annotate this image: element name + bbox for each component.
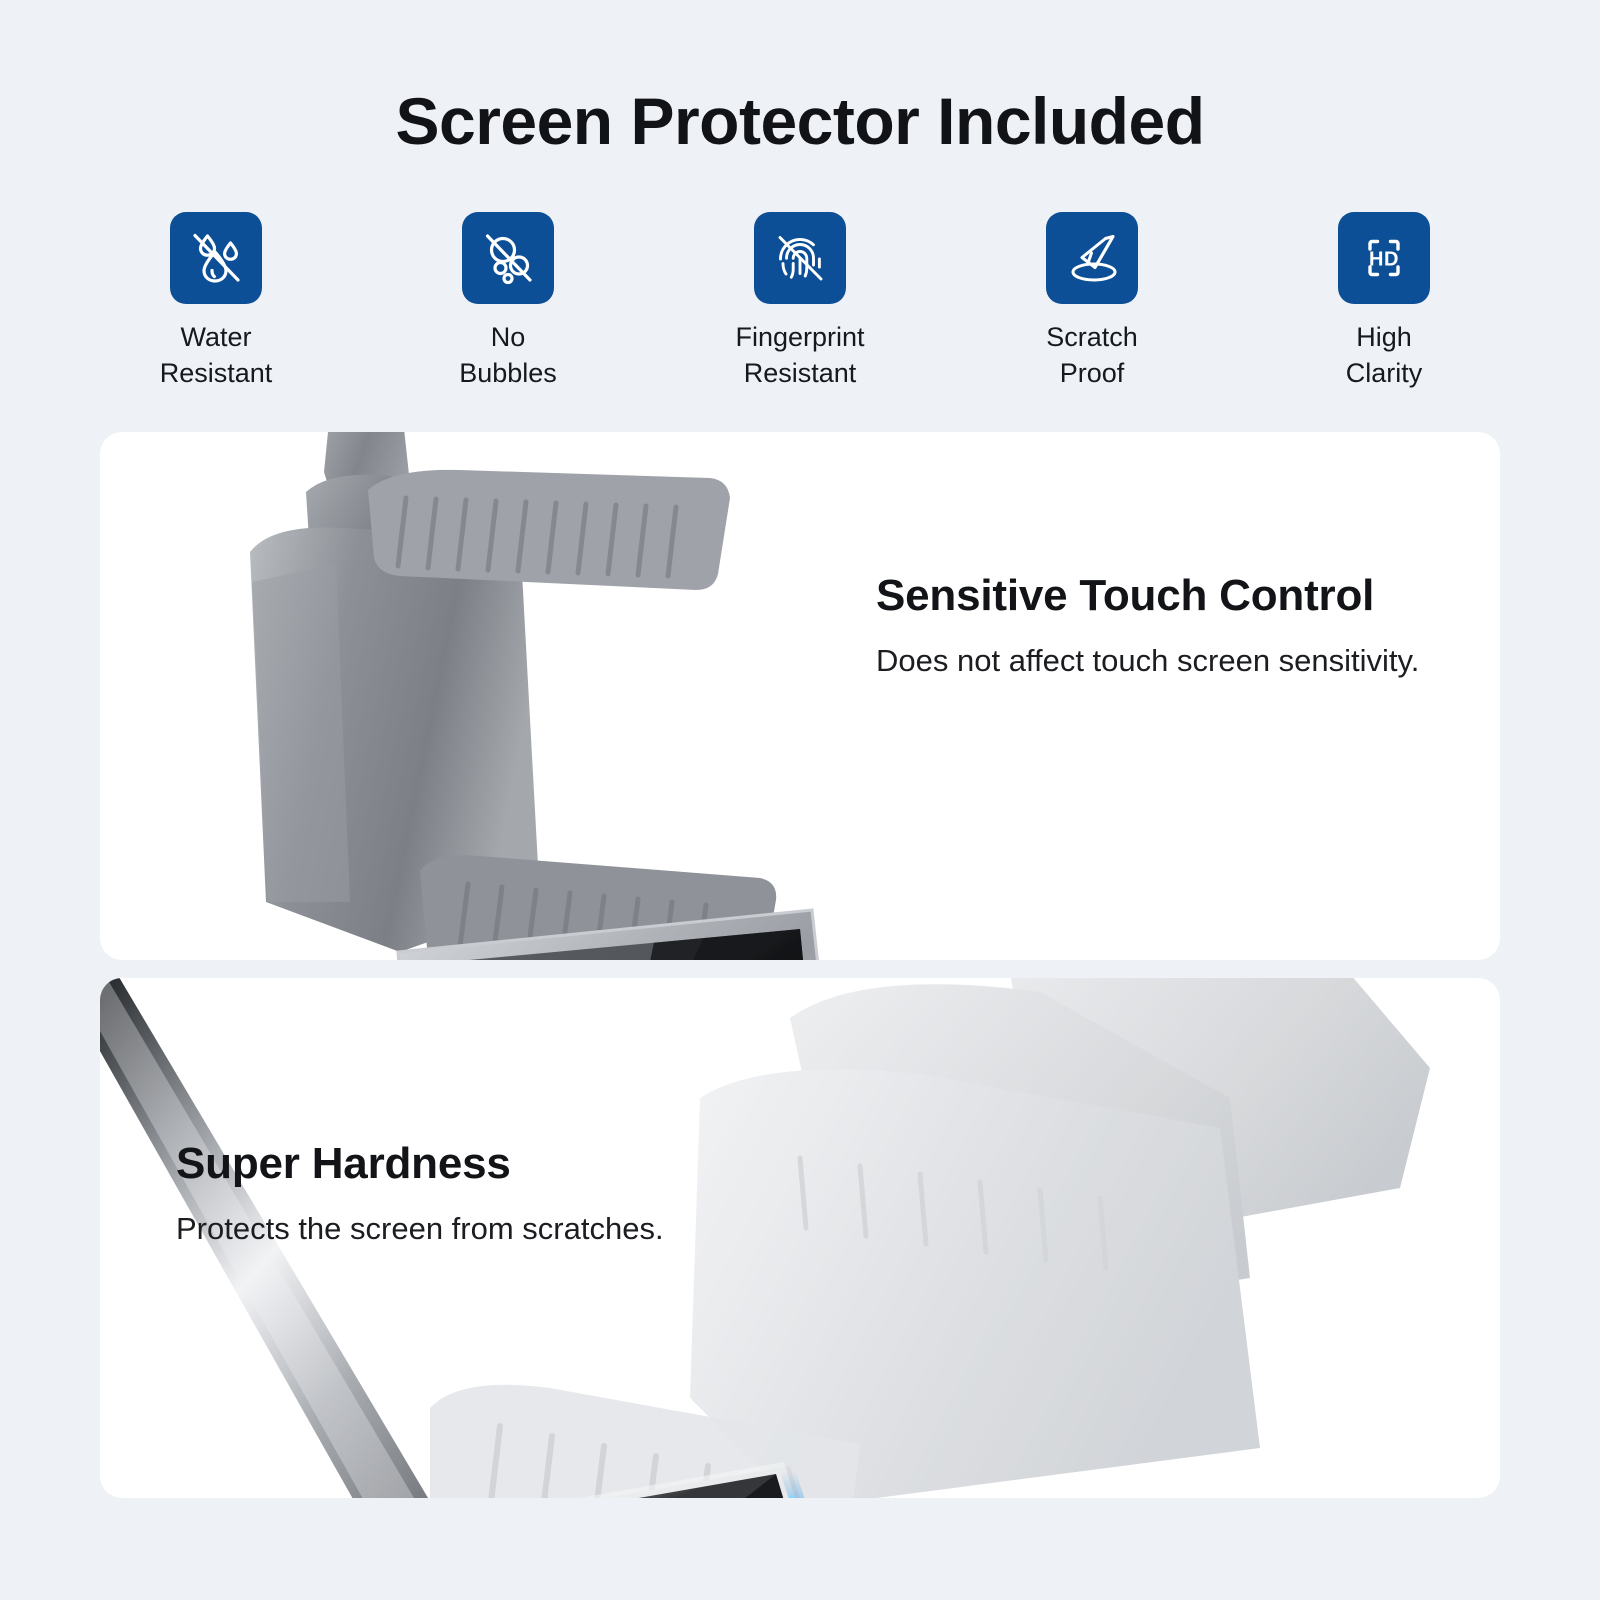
feature-label: High Clarity bbox=[1346, 320, 1423, 391]
bubbles-slash-icon bbox=[477, 227, 539, 289]
feature-item-high-clarity: HD High Clarity bbox=[1309, 212, 1459, 391]
feature-item-no-bubbles: No Bubbles bbox=[433, 212, 583, 391]
panel-copy: Super Hardness Protects the screen from … bbox=[176, 1140, 664, 1249]
feature-tile bbox=[754, 212, 846, 304]
panel-subtext: Protects the screen from scratches. bbox=[176, 1210, 664, 1249]
panel-heading: Super Hardness bbox=[176, 1140, 664, 1188]
touch-control-illustration bbox=[100, 432, 1500, 960]
feature-item-fingerprint-resistant: Fingerprint Resistant bbox=[725, 212, 875, 391]
feature-tile bbox=[170, 212, 262, 304]
panel-super-hardness: Super Hardness Protects the screen from … bbox=[100, 978, 1500, 1498]
panel-sensitive-touch-control: Sensitive Touch Control Does not affect … bbox=[100, 432, 1500, 960]
gimbal-camera-touch-artwork bbox=[100, 432, 1500, 960]
feature-label: Fingerprint Resistant bbox=[735, 320, 864, 391]
feature-list: Water Resistant No Bubbles bbox=[0, 212, 1600, 391]
feature-tile bbox=[462, 212, 554, 304]
feature-tile: HD bbox=[1338, 212, 1430, 304]
feature-item-scratch-proof: Scratch Proof bbox=[1017, 212, 1167, 391]
svg-text:HD: HD bbox=[1369, 249, 1399, 271]
panel-heading: Sensitive Touch Control bbox=[876, 572, 1419, 620]
feature-item-water-resistant: Water Resistant bbox=[141, 212, 291, 391]
panel-copy: Sensitive Touch Control Does not affect … bbox=[876, 572, 1419, 681]
fingerprint-slash-icon bbox=[769, 227, 831, 289]
panel-subtext: Does not affect touch screen sensitivity… bbox=[876, 642, 1419, 681]
feature-label: No Bubbles bbox=[459, 320, 557, 391]
hd-frame-icon: HD bbox=[1353, 227, 1415, 289]
feature-label: Water Resistant bbox=[160, 320, 273, 391]
feature-label: Scratch Proof bbox=[1046, 320, 1138, 391]
page-title: Screen Protector Included bbox=[0, 0, 1600, 154]
feature-tile bbox=[1046, 212, 1138, 304]
water-drop-slash-icon bbox=[185, 227, 247, 289]
blade-scratch-icon bbox=[1061, 227, 1123, 289]
